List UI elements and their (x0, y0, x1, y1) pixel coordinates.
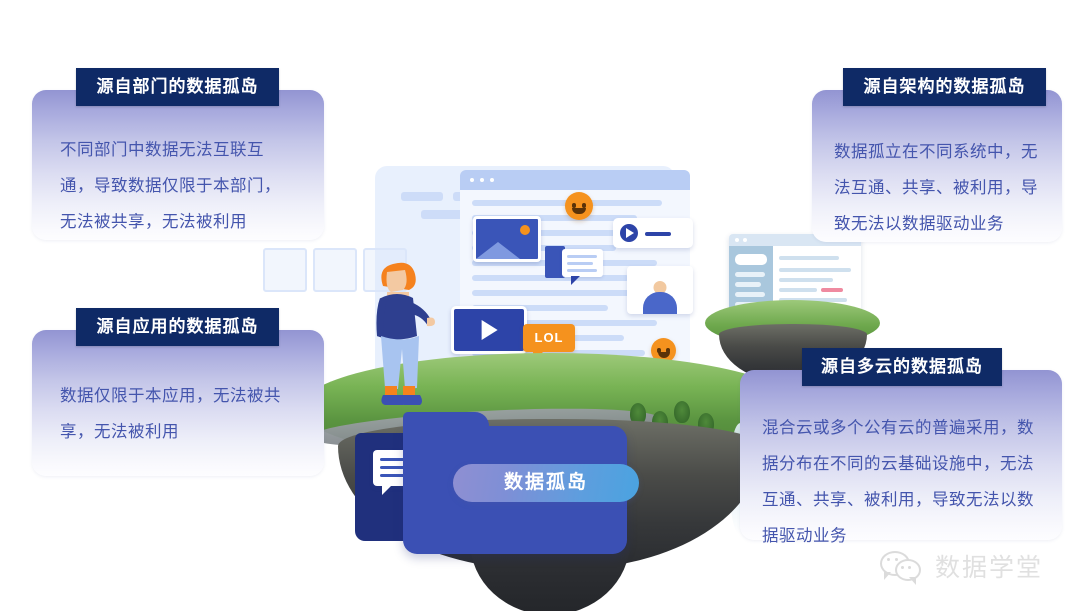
content-line (779, 268, 851, 272)
lol-badge: LOL (523, 324, 575, 352)
person-pants (381, 336, 419, 389)
person-shoe (400, 395, 422, 405)
wechat-eye (908, 566, 911, 569)
bubble-line (567, 262, 593, 265)
bubble-line (567, 255, 597, 258)
tree (674, 401, 690, 423)
play-triangle-icon (482, 320, 498, 340)
card-application-body: 数据仅限于本应用，无法被共享，无法被利用 (32, 378, 324, 450)
person-sock (403, 386, 415, 395)
bubble-tail (571, 276, 580, 285)
content-line (779, 288, 817, 292)
infographic-canvas: LOL 354 750 1 ♫ (0, 0, 1080, 611)
window-dot (743, 238, 747, 242)
sidebar-pill (735, 292, 765, 297)
card-department-body: 不同部门中数据无法互联互通，导致数据仅限于本部门，无法被共享，无法被利用 (32, 132, 324, 240)
window-dot (735, 238, 739, 242)
hill-shape (476, 242, 520, 259)
browser-dot (470, 178, 474, 182)
emoji-eye (572, 203, 576, 208)
document-comment-icon (545, 246, 603, 284)
card-architecture-body: 数据孤立在不同系统中，无法互通、共享、被利用，导致无法以数据驱动业务 (812, 134, 1062, 242)
card-line (645, 232, 671, 236)
ghost-bar (401, 192, 443, 201)
person-body (643, 292, 677, 314)
sidebar-pill (735, 254, 767, 265)
wechat-bubble-small (895, 559, 921, 581)
card-multicloud-title: 源自多云的数据孤岛 (802, 348, 1002, 386)
sun-shape (520, 225, 530, 235)
browser-dot (480, 178, 484, 182)
sidebar-pill (735, 272, 765, 277)
card-department-title: 源自部门的数据孤岛 (76, 68, 279, 106)
smiley-emoji-icon (565, 192, 593, 220)
card-application: 源自应用的数据孤岛 数据仅限于本应用，无法被共享，无法被利用 (32, 330, 324, 476)
person-sock (385, 386, 397, 395)
browser-titlebar (460, 170, 690, 190)
emoji-mouth (572, 208, 585, 214)
card-multicloud-body: 混合云或多个公有云的普遍采用，数据分布在不同的云基础设施中，无法互通、共享、被利… (740, 410, 1062, 554)
bubble-tail (382, 486, 391, 495)
wechat-eye (901, 566, 904, 569)
person-figure (363, 248, 435, 416)
play-circle-icon (620, 224, 638, 242)
content-line (779, 256, 839, 260)
bubble-line (567, 269, 597, 272)
watermark: 数据学堂 (880, 548, 1043, 584)
backdrop-square (313, 248, 357, 292)
watermark-text: 数据学堂 (935, 548, 1043, 584)
emoji-eye (582, 203, 586, 208)
center-label: 数据孤岛 (453, 464, 639, 502)
sidebar-pill (735, 282, 761, 287)
wechat-eye (895, 558, 898, 561)
person-face (387, 270, 407, 292)
comment-bubble (562, 249, 603, 277)
person-video-card-icon (627, 266, 693, 314)
card-application-title: 源自应用的数据孤岛 (76, 308, 279, 346)
person-hand (427, 318, 435, 327)
browser-dot (490, 178, 494, 182)
wechat-eye (887, 558, 890, 561)
content-line-highlight (821, 288, 843, 292)
image-media-icon (473, 216, 541, 262)
content-line (779, 278, 833, 282)
card-department: 源自部门的数据孤岛 不同部门中数据无法互联互通，导致数据仅限于本部门，无法被共享… (32, 90, 324, 240)
content-row (472, 290, 649, 296)
card-multicloud: 源自多云的数据孤岛 混合云或多个公有云的普遍采用，数据分布在不同的云基础设施中，… (740, 370, 1062, 540)
video-play-icon (451, 306, 527, 354)
card-architecture-title: 源自架构的数据孤岛 (843, 68, 1046, 106)
backdrop-square (263, 248, 307, 292)
card-architecture: 源自架构的数据孤岛 数据孤立在不同系统中，无法互通、共享、被利用，导致无法以数据… (812, 90, 1062, 242)
video-card-icon (613, 218, 693, 248)
wechat-icon (880, 551, 926, 581)
